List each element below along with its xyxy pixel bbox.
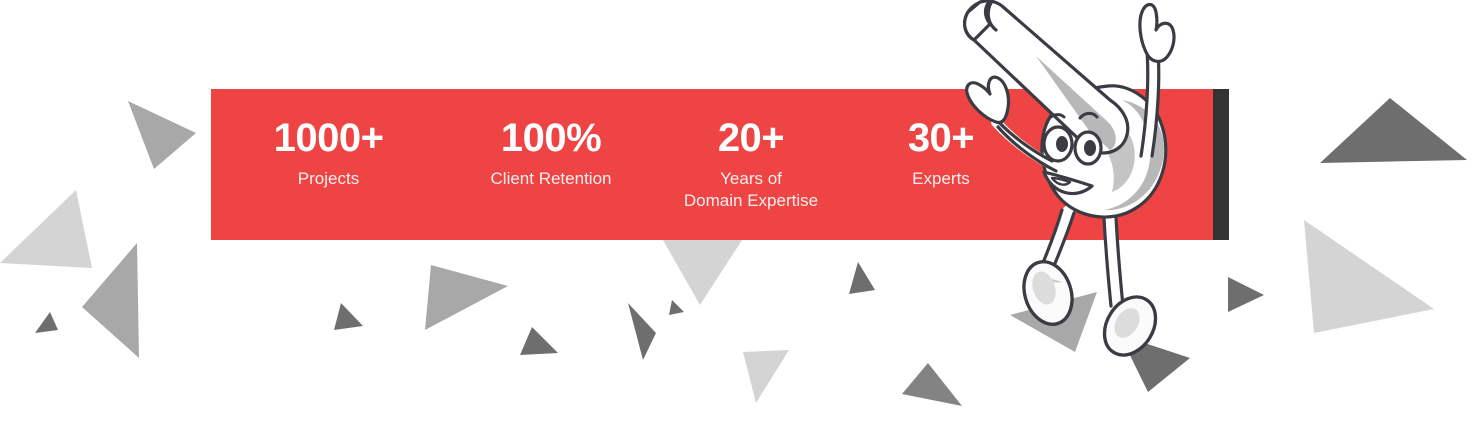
triangle-mid-large-medium [425,265,508,330]
mascot-left-shoe [1016,255,1080,330]
stat-value: 100% [446,117,656,159]
triangle-mid-tip-dark [669,300,684,315]
mascot-tick-stroke-highlight [988,0,996,30]
triangle-mid-small-dark [334,303,363,330]
stat-item-projects: 1000+ Projects [211,117,446,190]
triangle-bottom-light [743,350,789,403]
stat-value: 20+ [656,117,846,159]
stat-value: 1000+ [211,117,446,159]
stats-banner-graphic: 1000+ Projects 100% Client Retention 20+… [0,0,1477,429]
mascot-tick-stroke-cap [965,0,990,40]
triangle-banner-light [663,240,742,305]
triangle-bottom-dark [902,363,962,406]
stat-item-domain-expertise: 20+ Years of Domain Expertise [656,117,846,212]
stats-row: 1000+ Projects 100% Client Retention 20+… [211,89,1213,240]
stat-label: Years of Domain Expertise [656,168,846,212]
triangle-mid-right-dark [849,262,875,294]
stat-value: 30+ [846,117,1036,159]
banner-endcap [1213,89,1229,240]
triangle-shoe-shadow-right [1120,335,1190,392]
stat-label: Projects [211,168,446,190]
triangle-left-lower-medium [82,243,139,358]
triangle-right-endcap-medium [1228,277,1264,312]
stat-label: Client Retention [446,168,656,190]
stat-label: Experts [846,168,1036,190]
mascot-right-hand [1140,5,1174,62]
triangle-left-upper-medium [128,101,196,169]
triangle-mid-sliver-dark [628,303,656,360]
triangle-mid-small2-dark [520,327,558,355]
triangle-left-tiny-dark [35,312,58,333]
mascot-right-shoe [1094,288,1166,365]
stat-item-experts: 30+ Experts [846,117,1036,190]
triangle-right-upper-dark [1320,98,1467,163]
stat-item-client-retention: 100% Client Retention [446,117,656,190]
triangle-right-lower-light [1304,220,1434,333]
triangle-shoe-shadow-left [1010,292,1097,352]
triangle-left-mid-light [0,190,92,268]
